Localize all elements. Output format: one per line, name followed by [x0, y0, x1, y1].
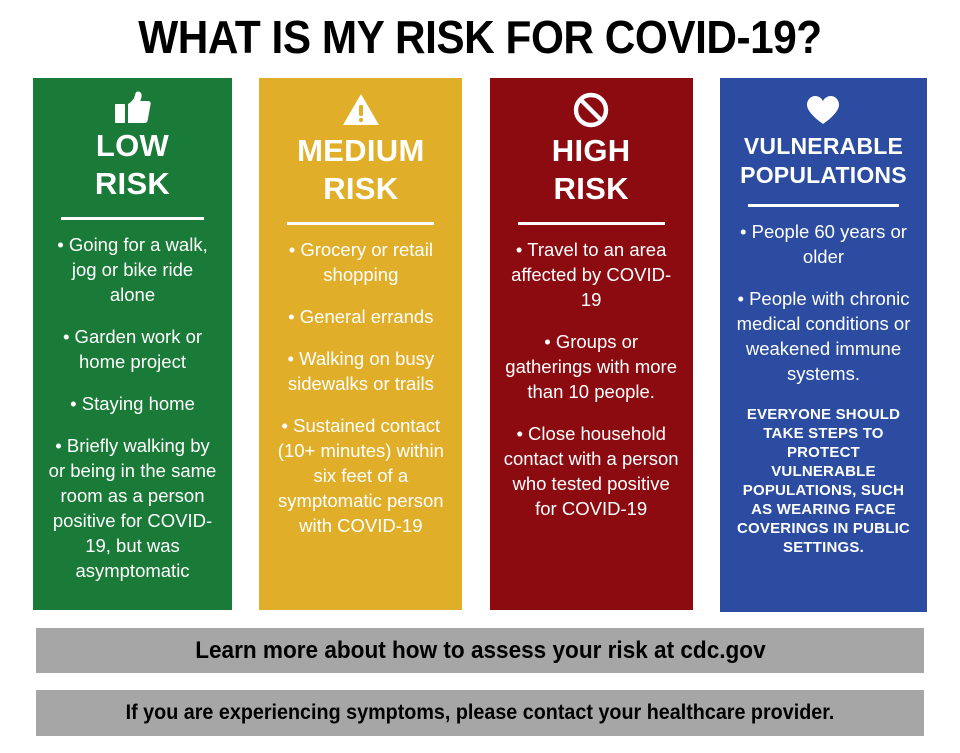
risk-panel-vulnerable-bullets: • People 60 years or older • People with… — [734, 219, 913, 403]
list-item: • People 60 years or older — [734, 219, 913, 269]
list-item: • Staying home — [47, 391, 218, 416]
warning-triangle-icon — [342, 90, 380, 130]
list-item: • General errands — [273, 304, 448, 329]
prohibition-icon — [573, 90, 609, 130]
vulnerable-populations-note: EVERYONE SHOULD TAKE STEPS TO PROTECT VU… — [734, 405, 913, 557]
risk-panel-low-heading-line2: RISK — [93, 165, 172, 203]
divider — [287, 222, 434, 225]
list-item: • Walking on busy sidewalks or trails — [273, 346, 448, 396]
list-item: • Travel to an area affected by COVID-19 — [504, 237, 679, 312]
footer-symptoms-bar: If you are experiencing symptoms, please… — [36, 690, 924, 736]
list-item: • Groups or gatherings with more than 10… — [504, 329, 679, 404]
risk-panel-high-bullets: • Travel to an area affected by COVID-19… — [504, 237, 679, 538]
risk-panel-low-heading-line1: LOW — [94, 127, 171, 165]
risk-panel-medium-heading-line1: MEDIUM — [295, 132, 427, 170]
divider — [748, 204, 898, 207]
risk-panel-high-heading-line1: HIGH — [550, 132, 633, 170]
risk-panel-high: HIGH RISK • Travel to an area affected b… — [490, 78, 693, 610]
footer-symptoms-text: If you are experiencing symptoms, please… — [126, 701, 835, 725]
footer-learn-more-bar: Learn more about how to assess your risk… — [36, 628, 924, 673]
list-item: • Briefly walking by or being in the sam… — [47, 433, 218, 583]
list-item: • Grocery or retail shopping — [273, 237, 448, 287]
list-item: • Going for a walk, jog or bike ride alo… — [47, 232, 218, 307]
footer-learn-more-text: Learn more about how to assess your risk… — [195, 637, 765, 665]
divider — [518, 222, 665, 225]
list-item: • People with chronic medical conditions… — [734, 286, 913, 386]
risk-panel-medium-bullets: • Grocery or retail shopping • General e… — [273, 237, 448, 555]
risk-panel-medium: MEDIUM RISK • Grocery or retail shopping… — [259, 78, 462, 610]
page-title: WHAT IS MY RISK FOR COVID-19? — [38, 8, 921, 66]
list-item: • Garden work or home project — [47, 324, 218, 374]
risk-panel-low-bullets: • Going for a walk, jog or bike ride alo… — [47, 232, 218, 600]
risk-panel-high-heading-line2: RISK — [552, 170, 631, 208]
risk-panel-vulnerable-heading-line1: VULNERABLE — [742, 132, 905, 161]
risk-panel-vulnerable: VULNERABLE POPULATIONS • People 60 years… — [720, 78, 927, 612]
list-item: • Sustained contact (10+ minutes) within… — [273, 413, 448, 538]
risk-panel-low: LOW RISK • Going for a walk, jog or bike… — [33, 78, 232, 610]
list-item: • Close household contact with a person … — [504, 421, 679, 521]
risk-panels: LOW RISK • Going for a walk, jog or bike… — [33, 78, 927, 612]
risk-panel-vulnerable-heading-line2: POPULATIONS — [738, 161, 909, 190]
risk-panel-medium-heading-line2: RISK — [321, 170, 400, 208]
divider — [61, 217, 205, 220]
thumbs-up-icon — [115, 90, 151, 125]
heart-icon — [805, 90, 841, 130]
